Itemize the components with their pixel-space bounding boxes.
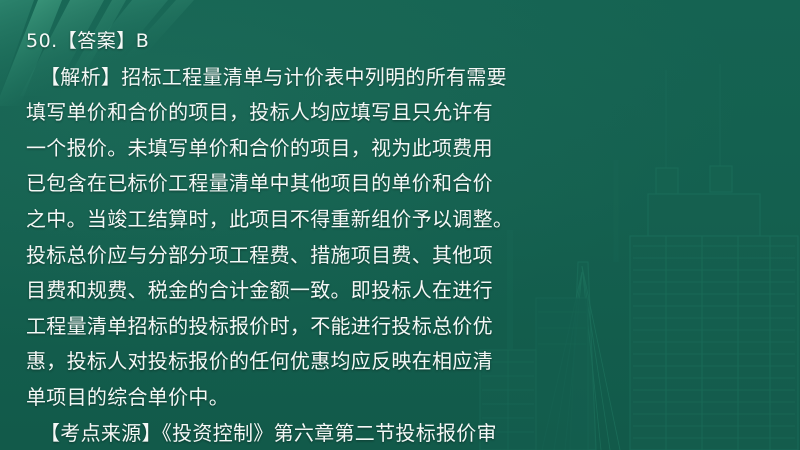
answer-explanation-text: 50.【答案】B 【解析】招标工程量清单与计价表中列明的所有需要 填写单价和合价…: [26, 24, 526, 450]
analysis-line-7: 目费和规费、税金的合计金额一致。即投标人在进行: [26, 273, 526, 309]
answer-line: 50.【答案】B: [26, 24, 526, 60]
analysis-line-4: 已包含在已标价工程量清单中其他项目的单价和合价: [26, 166, 526, 202]
analysis-line-6: 投标总价应与分部分项工程费、措施项目费、其他项: [26, 238, 526, 274]
analysis-line-9: 惠，投标人对投标报价的任何优惠均应反映在相应清: [26, 344, 526, 380]
analysis-line-1: 【解析】招标工程量清单与计价表中列明的所有需要: [26, 60, 526, 96]
analysis-line-3: 一个报价。未填写单价和合价的项目，视为此项费用: [26, 131, 526, 167]
analysis-line-2: 填写单价和合价的项目，投标人均应填写且只允许有: [26, 95, 526, 131]
slide-canvas: 50.【答案】B 【解析】招标工程量清单与计价表中列明的所有需要 填写单价和合价…: [0, 0, 800, 450]
analysis-line-5: 之中。当竣工结算时，此项目不得重新组价予以调整。: [26, 202, 526, 238]
source-line-1: 【考点来源】《投资控制》第六章第二节投标报价审: [26, 416, 526, 450]
analysis-line-8: 工程量清单招标的投标报价时，不能进行投标总价优: [26, 309, 526, 345]
analysis-line-10: 单项目的综合单价中。: [26, 380, 526, 416]
